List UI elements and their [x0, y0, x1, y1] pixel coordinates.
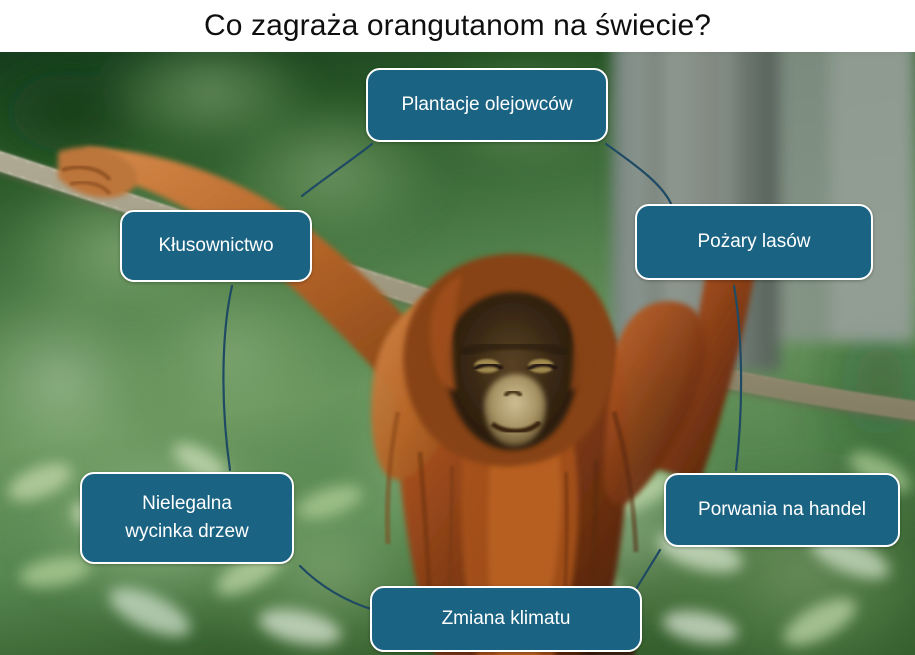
orangutan-photo: [0, 52, 915, 655]
callout-zmiana-klimatu[interactable]: Zmiana klimatu: [370, 586, 642, 652]
callout-label: Zmiana klimatu: [386, 606, 626, 632]
callout-klusownictwo[interactable]: Kłusownictwo: [120, 210, 312, 282]
slide-root: Co zagraża orangutanom na świecie?: [0, 0, 915, 655]
callout-porwania-na-handel[interactable]: Porwania na handel: [664, 473, 900, 547]
page-title: Co zagraża orangutanom na świecie?: [204, 9, 711, 43]
callout-label-line2: wycinka drzew: [125, 521, 249, 542]
callout-label: Kłusownictwo: [136, 233, 296, 259]
callout-nielegalna-wycinka-drzew[interactable]: Nielegalna wycinka drzew: [80, 472, 294, 564]
title-bar: Co zagraża orangutanom na świecie?: [0, 0, 915, 52]
callout-label: Pożary lasów: [651, 229, 857, 255]
callout-label: Nielegalna wycinka drzew: [96, 490, 278, 546]
callout-label-line1: Nielegalna: [142, 493, 232, 514]
callout-pozary-lasow[interactable]: Pożary lasów: [635, 204, 873, 280]
callout-label: Plantacje olejowców: [382, 92, 592, 118]
callout-label: Porwania na handel: [680, 497, 884, 523]
photo-container: [0, 52, 915, 655]
callout-plantacje-olejowcow[interactable]: Plantacje olejowców: [366, 68, 608, 142]
